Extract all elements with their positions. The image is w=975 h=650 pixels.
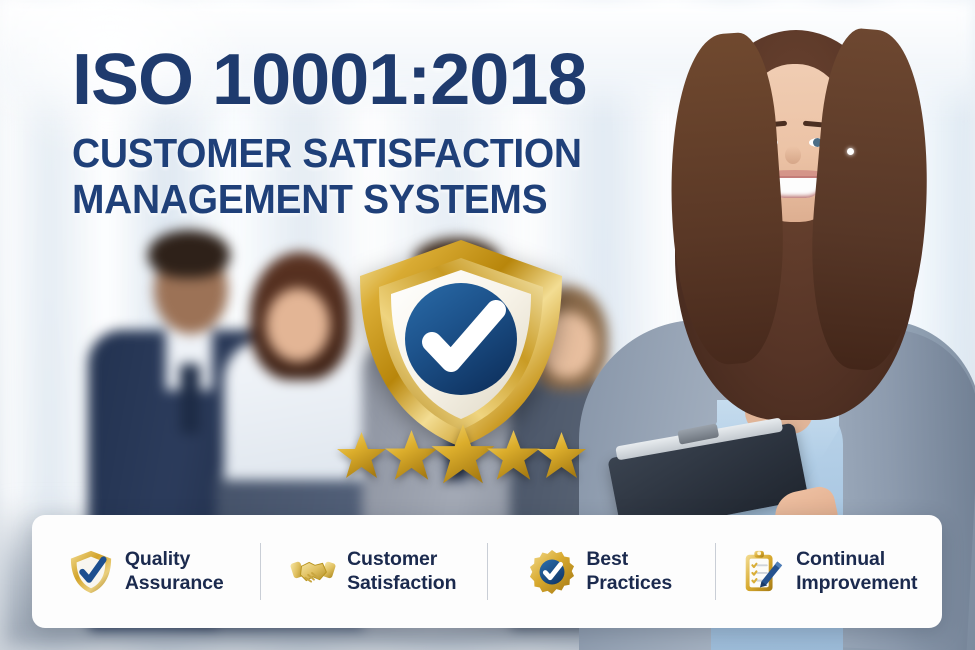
subtitle-line-1: CUSTOMER SATISFACTION xyxy=(72,131,582,175)
shield-check-badge-icon xyxy=(350,236,572,451)
feature-label-line2: Assurance xyxy=(125,572,224,596)
feature-customer-satisfaction[interactable]: Customer Satisfaction xyxy=(260,515,488,628)
feature-label: Continual Improvement xyxy=(796,548,917,596)
feature-label: Customer Satisfaction xyxy=(347,548,456,596)
feature-label: Quality Assurance xyxy=(125,548,224,596)
feature-quality-assurance[interactable]: Quality Assurance xyxy=(32,515,260,628)
rating-stars xyxy=(336,420,586,482)
feature-best-practices[interactable]: Best Practices xyxy=(487,515,715,628)
feature-label-line1: Best xyxy=(586,548,672,572)
star-icon-5 xyxy=(536,431,587,480)
feature-label-line2: Satisfaction xyxy=(347,572,456,596)
earring xyxy=(847,148,854,155)
certification-badge xyxy=(336,236,586,486)
clipboard-pen-icon xyxy=(739,549,785,595)
feature-label-line1: Quality xyxy=(125,548,224,572)
feature-continual-improvement[interactable]: Continual Improvement xyxy=(715,515,943,628)
feature-label: Best Practices xyxy=(586,548,672,596)
gear-check-icon xyxy=(529,549,575,595)
nose xyxy=(785,146,801,164)
page-title: ISO 10001:2018 xyxy=(72,46,609,115)
title-block: ISO 10001:2018 CUSTOMER SATISFACTION MAN… xyxy=(72,46,609,222)
page-subtitle: CUSTOMER SATISFACTION MANAGEMENT SYSTEMS xyxy=(72,131,582,222)
feature-label-line1: Continual xyxy=(796,548,917,572)
star-icon-4 xyxy=(486,429,541,482)
subtitle-line-2: MANAGEMENT SYSTEMS xyxy=(72,177,582,221)
features-card: Quality Assurance Customer Satisfaction xyxy=(32,515,942,628)
iso-certification-poster: ISO 10001:2018 CUSTOMER SATISFACTION MAN… xyxy=(0,0,975,650)
star-icon-1 xyxy=(336,431,387,480)
shield-check-icon xyxy=(68,549,114,595)
feature-label-line2: Improvement xyxy=(796,572,917,596)
feature-label-line1: Customer xyxy=(347,548,456,572)
handshake-icon xyxy=(290,549,336,595)
feature-label-line2: Practices xyxy=(586,572,672,596)
